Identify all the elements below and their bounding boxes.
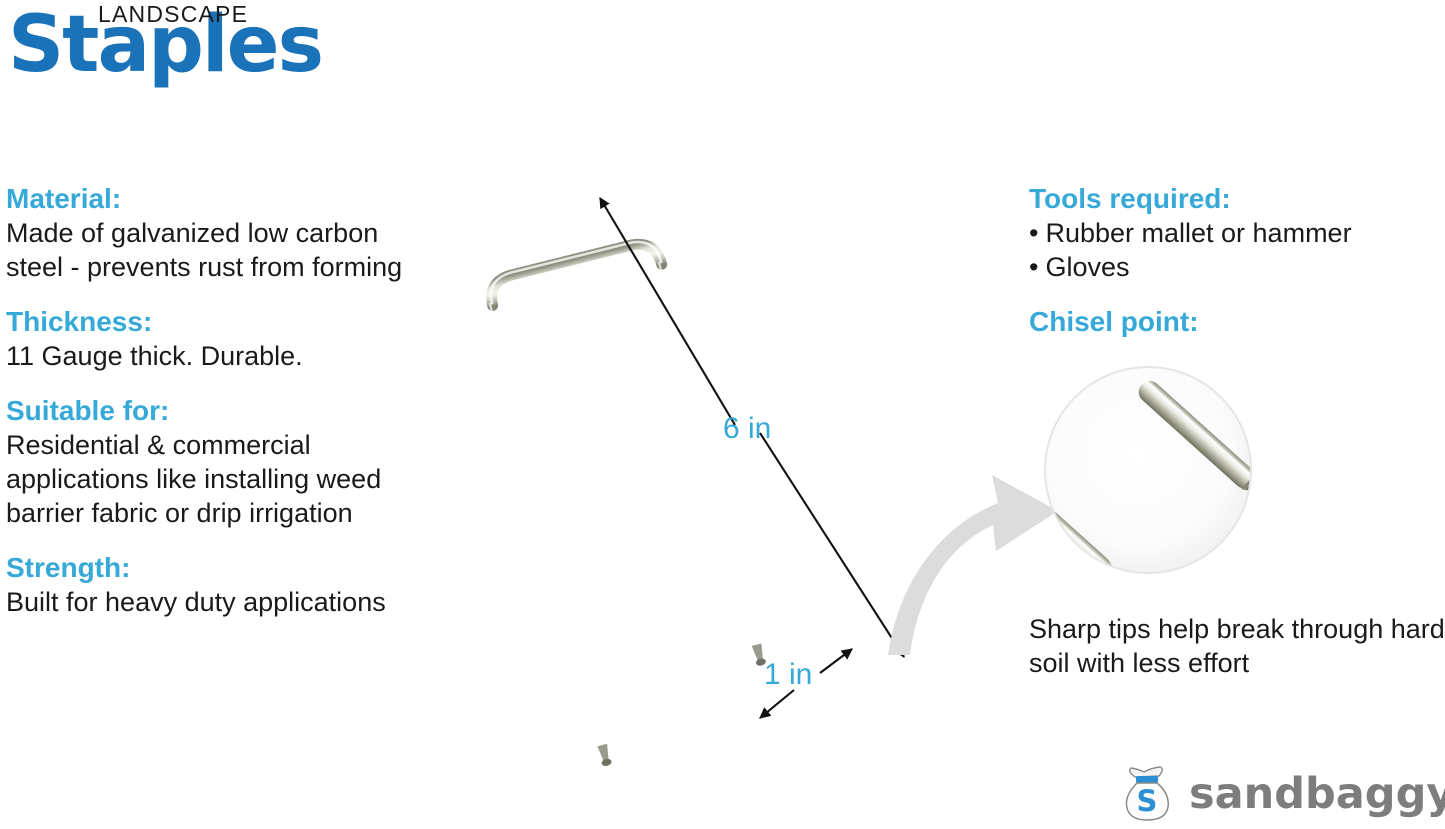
right-spec-column: Tools required: Rubber mallet or hammer … <box>1029 182 1441 359</box>
logo-kicker: LANDSCAPE <box>98 3 248 26</box>
dimension-label-width: 1 in <box>764 658 812 692</box>
left-spec-column: Material: Made of galvanized low carbon … <box>6 182 426 640</box>
list-item: Rubber mallet or hammer <box>1029 216 1441 250</box>
sandbaggy-brand: S sandbaggy <box>1118 762 1445 826</box>
spec-body-thickness: 11 Gauge thick. Durable. <box>6 339 426 373</box>
list-item: Gloves <box>1029 250 1441 284</box>
spec-group-chisel-point: Chisel point: <box>1029 305 1441 338</box>
spec-group-thickness: Thickness: 11 Gauge thick. Durable. <box>6 305 426 373</box>
sandbag-icon: S <box>1118 763 1180 825</box>
landscape-staple-illustration <box>420 170 940 780</box>
infographic-page: Staples LANDSCAPE Material: Made of galv… <box>0 0 1445 829</box>
spec-group-strength: Strength: Built for heavy duty applicati… <box>6 551 426 619</box>
brand-name: sandbaggy <box>1189 773 1445 816</box>
spec-heading-strength: Strength: <box>6 551 426 584</box>
sandbag-letter: S <box>1137 784 1158 818</box>
spec-body-strength: Built for heavy duty applications <box>6 585 426 619</box>
spec-heading-thickness: Thickness: <box>6 305 426 338</box>
tools-required-list: Rubber mallet or hammer Gloves <box>1029 216 1441 284</box>
dimension-label-length: 6 in <box>723 412 771 446</box>
product-logo: Staples LANDSCAPE <box>8 2 388 107</box>
spec-heading-suitable-for: Suitable for: <box>6 394 426 427</box>
chisel-point-caption: Sharp tips help break through hard soil … <box>1029 612 1445 680</box>
spec-heading-chisel-point: Chisel point: <box>1029 305 1441 338</box>
spec-group-material: Material: Made of galvanized low carbon … <box>6 182 426 284</box>
spec-body-suitable-for: Residential & commercial applications li… <box>6 428 426 530</box>
spec-group-suitable-for: Suitable for: Residential & commercial a… <box>6 394 426 530</box>
spec-heading-material: Material: <box>6 182 426 215</box>
spec-body-material: Made of galvanized low carbon steel - pr… <box>6 216 426 284</box>
chisel-point-magnifier <box>1043 365 1253 575</box>
spec-group-tools-required: Tools required: Rubber mallet or hammer … <box>1029 182 1441 284</box>
spec-heading-tools-required: Tools required: <box>1029 182 1441 215</box>
